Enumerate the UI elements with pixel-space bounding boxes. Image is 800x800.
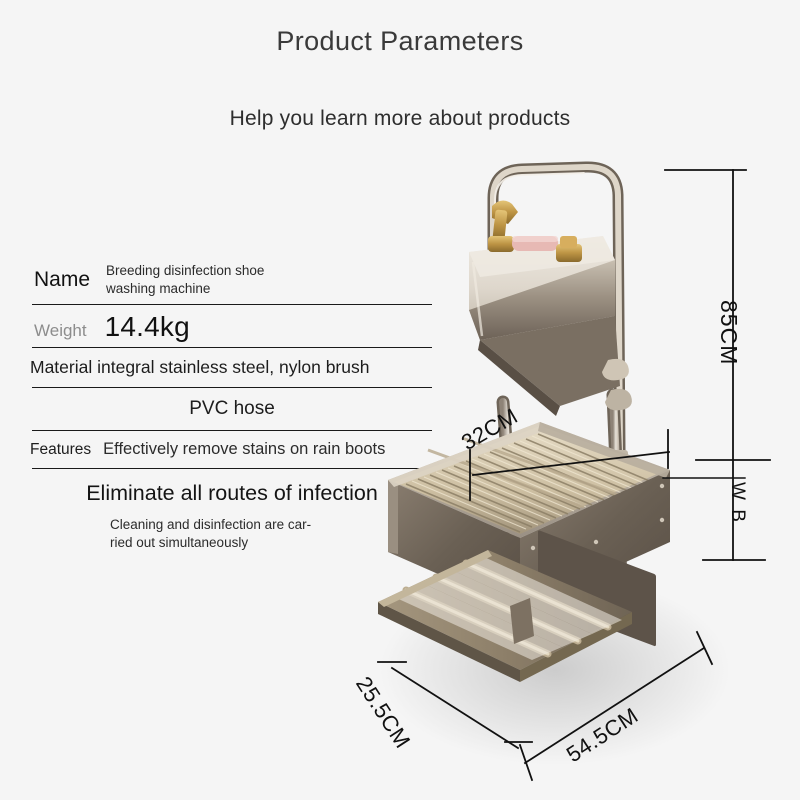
page-title: Product Parameters	[0, 26, 800, 57]
spec-value-name-line1: Breeding disinfection shoe	[106, 263, 264, 278]
product-parameters-page: Product Parameters Help you learn more a…	[0, 0, 800, 800]
spec-value-weight: 14.4kg	[105, 311, 190, 343]
spec-label-name: Name	[34, 268, 90, 292]
brass-valve	[488, 200, 558, 252]
base-connector	[510, 598, 534, 644]
spec-value-features: Effectively remove stains on rain boots	[103, 440, 385, 459]
dimension-height: 85CM	[715, 300, 742, 365]
spec-note-line2: ried out simultaneously	[110, 535, 248, 550]
spec-note-line1: Cleaning and disinfection are car-	[110, 517, 311, 532]
spec-value-name: Breeding disinfection shoe washing machi…	[106, 262, 264, 298]
dimension-watermark: W B	[726, 482, 748, 524]
spec-label-features: Features	[30, 441, 91, 459]
water-trough	[469, 236, 620, 416]
product-image	[370, 150, 800, 800]
spec-label-weight: Weight	[34, 321, 87, 341]
spec-value-name-line2: washing machine	[106, 281, 210, 296]
page-subtitle: Help you learn more about products	[0, 107, 800, 131]
